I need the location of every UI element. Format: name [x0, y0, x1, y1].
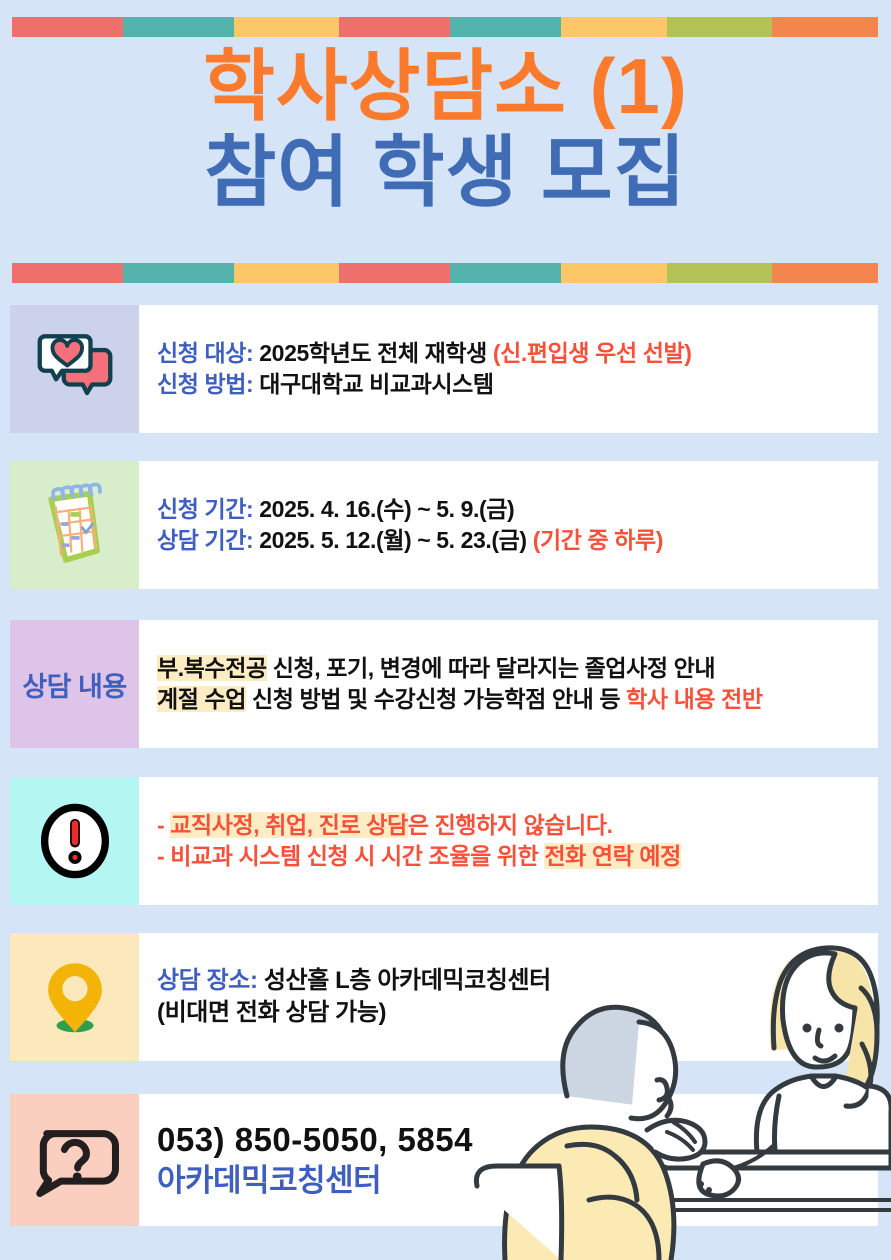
stripe-segment-4 [339, 263, 450, 283]
map-pin-icon [10, 933, 139, 1061]
info-row-contact: 053) 850-5050, 5854 아카데믹코칭센터 [10, 1094, 878, 1226]
target-line-1-label: 신청 대상: [157, 340, 253, 366]
place-line-2: (비대면 전화 상담 가능) [157, 997, 864, 1029]
page-title: 학사상담소 (1) 참여 학생 모집 [0, 47, 891, 211]
notice-line-2-dash: - [157, 843, 170, 869]
stripe-segment-5 [450, 263, 561, 283]
section-label-consult-content: 상담 내용 [10, 620, 139, 748]
stripe-segment-2 [123, 263, 234, 283]
notice-line-2-highlight: 전화 연락 예정 [544, 843, 681, 869]
question-bubble-icon [10, 1094, 139, 1226]
stripe-segment-8 [772, 263, 878, 283]
target-line-1-note: (신.편입생 우선 선발) [493, 340, 692, 366]
title-line-1: 학사상담소 (1) [0, 47, 891, 125]
content-line-1-rest: 신청, 포기, 변경에 따라 달라지는 졸업사정 안내 [267, 655, 715, 681]
target-line-2: 신청 방법: 대구대학교 비교과시스템 [157, 369, 864, 400]
chat-heart-icon [10, 305, 139, 433]
target-line-1-value: 2025학년도 전체 재학생 [253, 340, 493, 366]
target-line-1: 신청 대상: 2025학년도 전체 재학생 (신.편입생 우선 선발) [157, 338, 864, 369]
content-line-2: 계절 수업 신청 방법 및 수강신청 가능학점 안내 등 학사 내용 전반 [157, 684, 864, 715]
info-row-target-body: 신청 대상: 2025학년도 전체 재학생 (신.편입생 우선 선발) 신청 방… [139, 305, 878, 433]
notice-line-2: - 비교과 시스템 신청 시 시간 조율을 위한 전화 연락 예정 [157, 841, 864, 872]
stripe-segment-7 [667, 263, 773, 283]
period-line-1: 신청 기간: 2025. 4. 16.(수) ~ 5. 9.(금) [157, 494, 864, 525]
content-line-2-highlight: 계절 수업 [157, 686, 246, 712]
bottom-stripe-bar [12, 263, 878, 283]
contact-center-name: 아카데믹코칭센터 [157, 1161, 864, 1201]
info-row-place: 상담 장소: 성산홀 L층 아카데믹코칭센터 (비대면 전화 상담 가능) [10, 933, 878, 1061]
stripe-segment-3 [234, 17, 340, 37]
info-row-notice: - 교직사정, 취업, 진로 상담은 진행하지 않습니다. - 비교과 시스템 … [10, 777, 878, 905]
notice-line-1-dash: - [157, 812, 170, 838]
stripe-segment-1 [12, 17, 123, 37]
info-row-place-body: 상담 장소: 성산홀 L층 아카데믹코칭센터 (비대면 전화 상담 가능) [139, 933, 878, 1061]
period-line-2-note: (기간 중 하루) [533, 527, 663, 553]
stripe-segment-3 [234, 263, 340, 283]
stripe-segment-1 [12, 263, 123, 283]
notice-line-1-rest: 은 진행하지 않습니다. [408, 812, 613, 838]
info-row-target: 신청 대상: 2025학년도 전체 재학생 (신.편입생 우선 선발) 신청 방… [10, 305, 878, 433]
target-line-2-label: 신청 방법: [157, 371, 253, 397]
place-line-1-label: 상담 장소: [157, 967, 258, 994]
period-line-2: 상담 기간: 2025. 5. 12.(월) ~ 5. 23.(금) (기간 중… [157, 525, 864, 556]
content-line-2-note: 학사 내용 전반 [626, 686, 763, 712]
period-line-2-label: 상담 기간: [157, 527, 253, 553]
place-line-1-value: 성산홀 L층 아카데믹코칭센터 [258, 967, 551, 994]
stripe-segment-5 [450, 17, 561, 37]
notice-line-1: - 교직사정, 취업, 진로 상담은 진행하지 않습니다. [157, 810, 864, 841]
stripe-segment-4 [339, 17, 450, 37]
content-line-1-highlight: 부.복수전공 [157, 655, 267, 681]
notice-line-1-highlight: 교직사정, 취업, 진로 상담 [170, 812, 408, 838]
consult-content-label: 상담 내용 [22, 665, 126, 704]
info-row-content-body: 부.복수전공 신청, 포기, 변경에 따라 달라지는 졸업사정 안내 계절 수업… [139, 620, 878, 748]
target-line-2-value: 대구대학교 비교과시스템 [253, 371, 493, 397]
stripe-segment-6 [561, 17, 667, 37]
period-line-2-value: 2025. 5. 12.(월) ~ 5. 23.(금) [253, 527, 532, 553]
place-line-1: 상담 장소: 성산홀 L층 아카데믹코칭센터 [157, 965, 864, 997]
top-stripe-bar [12, 17, 878, 37]
info-row-notice-body: - 교직사정, 취업, 진로 상담은 진행하지 않습니다. - 비교과 시스템 … [139, 777, 878, 905]
info-row-period-body: 신청 기간: 2025. 4. 16.(수) ~ 5. 9.(금) 상담 기간:… [139, 461, 878, 589]
period-line-1-label: 신청 기간: [157, 496, 253, 522]
notice-line-2-text: 비교과 시스템 신청 시 시간 조율을 위한 [170, 843, 544, 869]
contact-phone: 053) 850-5050, 5854 [157, 1119, 864, 1161]
title-line-2: 참여 학생 모집 [0, 133, 891, 211]
info-row-content: 상담 내용 부.복수전공 신청, 포기, 변경에 따라 달라지는 졸업사정 안내… [10, 620, 878, 748]
stripe-segment-6 [561, 263, 667, 283]
info-row-period: 신청 기간: 2025. 4. 16.(수) ~ 5. 9.(금) 상담 기간:… [10, 461, 878, 589]
info-row-contact-body: 053) 850-5050, 5854 아카데믹코칭센터 [139, 1094, 878, 1226]
calendar-icon [10, 461, 139, 589]
content-line-1: 부.복수전공 신청, 포기, 변경에 따라 달라지는 졸업사정 안내 [157, 653, 864, 684]
content-line-2-rest: 신청 방법 및 수강신청 가능학점 안내 등 [246, 686, 626, 712]
stripe-segment-8 [772, 17, 878, 37]
stripe-segment-2 [123, 17, 234, 37]
exclamation-circle-icon [10, 777, 139, 905]
stripe-segment-7 [667, 17, 773, 37]
poster-root: 학사상담소 (1) 참여 학생 모집 신청 대상: 2025학년도 전체 재학생… [0, 0, 891, 1260]
period-line-1-value: 2025. 4. 16.(수) ~ 5. 9.(금) [253, 496, 514, 522]
